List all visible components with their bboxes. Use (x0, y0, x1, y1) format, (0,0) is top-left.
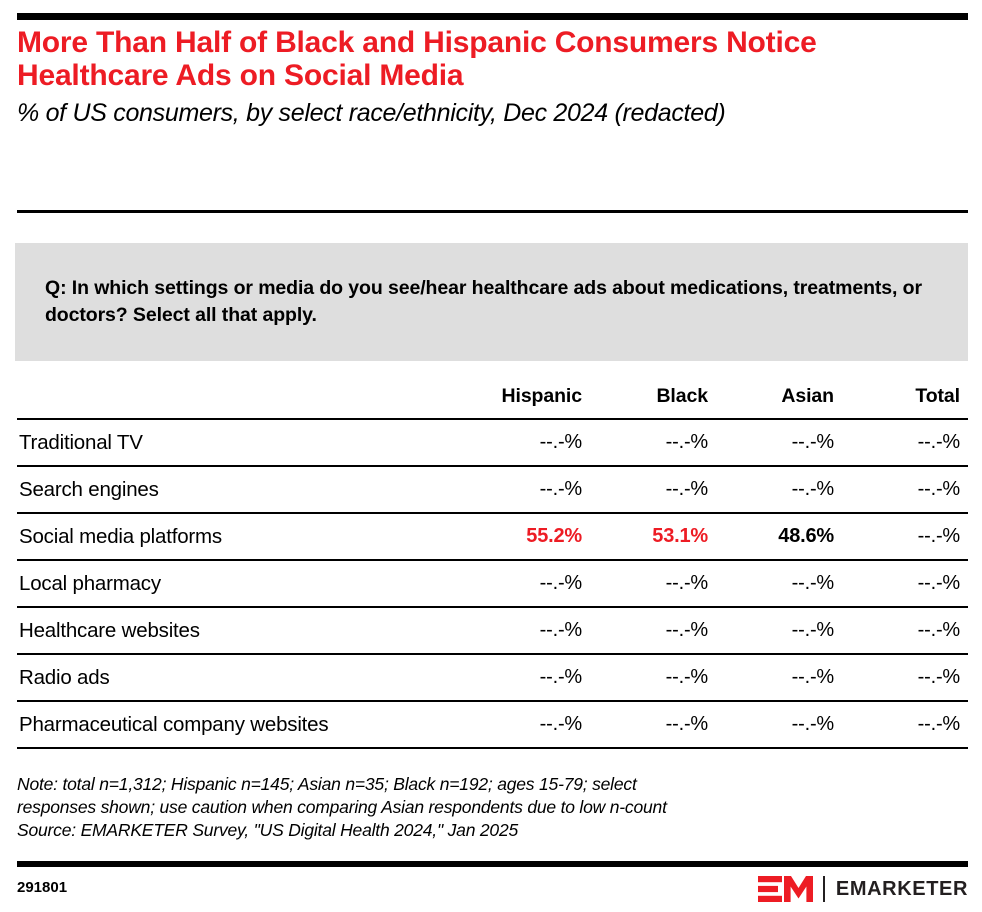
survey-question-text: Q: In which settings or media do you see… (15, 275, 968, 329)
cell-value: --.-% (464, 654, 590, 701)
data-table: Hispanic Black Asian Total Traditional T… (17, 385, 968, 749)
cell-value: --.-% (590, 560, 716, 607)
note-line-2: responses shown; use caution when compar… (17, 796, 968, 819)
table-header-row: Hispanic Black Asian Total (17, 385, 968, 419)
row-label: Social media platforms (17, 513, 464, 560)
cell-value: --.-% (842, 466, 968, 513)
survey-question-box: Q: In which settings or media do you see… (15, 243, 968, 361)
cell-value: --.-% (842, 654, 968, 701)
cell-value: --.-% (464, 419, 590, 466)
source-line: Source: EMARKETER Survey, "US Digital He… (17, 819, 968, 842)
column-header-hispanic: Hispanic (464, 385, 590, 419)
row-label: Traditional TV (17, 419, 464, 466)
table-row: Search engines --.-% --.-% --.-% --.-% (17, 466, 968, 513)
table-row: Radio ads --.-% --.-% --.-% --.-% (17, 654, 968, 701)
bottom-divider (17, 861, 968, 867)
brand-name: EMARKETER (836, 876, 968, 902)
cell-value: --.-% (464, 607, 590, 654)
note-line-1: Note: total n=1,312; Hispanic n=145; Asi… (17, 773, 968, 796)
table-head: Hispanic Black Asian Total (17, 385, 968, 419)
cell-value: --.-% (464, 701, 590, 748)
top-divider (17, 13, 968, 20)
footnotes: Note: total n=1,312; Hispanic n=145; Asi… (17, 773, 968, 842)
cell-value: --.-% (842, 701, 968, 748)
cell-value: --.-% (842, 607, 968, 654)
chart-id: 291801 (17, 879, 67, 896)
data-table-container: Hispanic Black Asian Total Traditional T… (17, 385, 968, 749)
cell-value: --.-% (590, 419, 716, 466)
cell-value: --.-% (716, 607, 842, 654)
page-title: More Than Half of Black and Hispanic Con… (17, 26, 957, 92)
cell-value: --.-% (842, 513, 968, 560)
row-label: Radio ads (17, 654, 464, 701)
cell-value: --.-% (464, 466, 590, 513)
cell-value: --.-% (590, 654, 716, 701)
cell-value-highlighted: 55.2% (464, 513, 590, 560)
page-subtitle: % of US consumers, by select race/ethnic… (17, 98, 968, 129)
cell-value: --.-% (590, 701, 716, 748)
cell-value: --.-% (842, 419, 968, 466)
cell-value-emphasis: 48.6% (716, 513, 842, 560)
row-label: Pharmaceutical company websites (17, 701, 464, 748)
table-row: Traditional TV --.-% --.-% --.-% --.-% (17, 419, 968, 466)
row-label: Healthcare websites (17, 607, 464, 654)
cell-value: --.-% (716, 466, 842, 513)
table-row: Local pharmacy --.-% --.-% --.-% --.-% (17, 560, 968, 607)
chart-card: More Than Half of Black and Hispanic Con… (0, 0, 982, 912)
column-header-asian: Asian (716, 385, 842, 419)
cell-value: --.-% (464, 560, 590, 607)
cell-value: --.-% (842, 560, 968, 607)
em-logo-icon (758, 876, 814, 902)
brand-divider (823, 876, 825, 902)
table-row: Pharmaceutical company websites --.-% --… (17, 701, 968, 748)
column-header-black: Black (590, 385, 716, 419)
cell-value: --.-% (590, 466, 716, 513)
table-row: Healthcare websites --.-% --.-% --.-% --… (17, 607, 968, 654)
footer: 291801 EMARKETER (17, 874, 968, 904)
row-label: Local pharmacy (17, 560, 464, 607)
column-header-total: Total (842, 385, 968, 419)
table-body: Traditional TV --.-% --.-% --.-% --.-% S… (17, 419, 968, 748)
cell-value: --.-% (590, 607, 716, 654)
cell-value: --.-% (716, 560, 842, 607)
cell-value: --.-% (716, 701, 842, 748)
brand-lockup: EMARKETER (758, 874, 968, 904)
header-divider (17, 210, 968, 213)
cell-value-highlighted: 53.1% (590, 513, 716, 560)
table-row: Social media platforms 55.2% 53.1% 48.6%… (17, 513, 968, 560)
column-header-label (17, 385, 464, 419)
header: More Than Half of Black and Hispanic Con… (17, 26, 968, 129)
row-label: Search engines (17, 466, 464, 513)
cell-value: --.-% (716, 654, 842, 701)
cell-value: --.-% (716, 419, 842, 466)
